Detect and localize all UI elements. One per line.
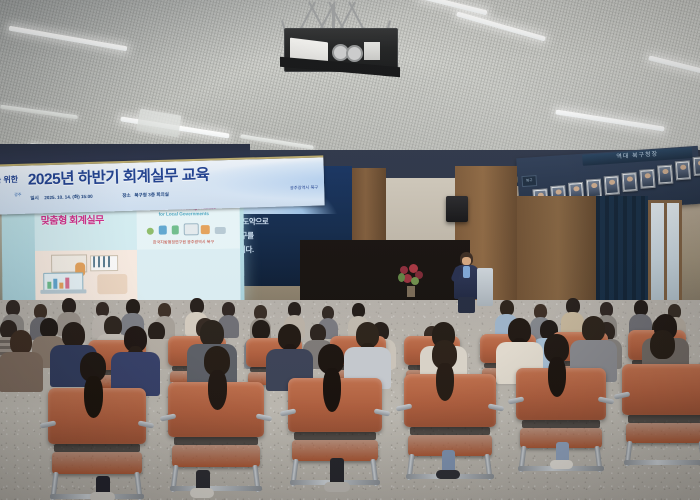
audience-shoe xyxy=(190,488,214,498)
audience-shoe xyxy=(90,492,115,500)
slide-icon-person xyxy=(172,225,179,234)
portrait-frame xyxy=(693,156,700,176)
portrait-wall-side-tag: 북구 xyxy=(521,175,537,187)
audience-shoe xyxy=(324,482,350,492)
slide-title: 맞춤형 회계실무 xyxy=(41,211,104,227)
slide-icon-circle xyxy=(147,228,154,235)
flower-arrangement xyxy=(398,264,424,296)
stage-wood-panel-far-right xyxy=(517,196,599,312)
seminar-room-photo: 역대 북구청장 북구 상생, 도약으로 찬 북구를 겠습니다. xyxy=(0,0,700,500)
banner-organizer-logo: 광주광역시 북구 xyxy=(290,185,318,192)
portrait-frame xyxy=(639,169,655,189)
banner-place-value: 북구청 3층 회의실 xyxy=(134,192,169,199)
banner-prefix-text: 을 위한 xyxy=(0,174,18,186)
projected-slide: 지방자치단체 맞춤형 회계실무 Customized Accounting Pr… xyxy=(34,199,240,305)
laptop-base xyxy=(40,289,86,293)
slide-icon-laptop xyxy=(215,227,226,234)
audience-shoe xyxy=(550,460,573,469)
banner-tiny-mark: 광주 xyxy=(14,192,22,198)
slide-footer-logos: 한국지방행정연구원 광주광역시 북구 xyxy=(153,239,214,246)
projector-fan-2 xyxy=(346,45,363,62)
slide-illustration-desk-scene xyxy=(97,274,127,294)
audience-shoe xyxy=(436,470,460,479)
slide-icon-document xyxy=(159,226,167,235)
projector-control-panel xyxy=(364,42,380,60)
portrait-frame xyxy=(604,175,620,195)
banner-place-label: 장소 xyxy=(122,193,131,199)
banner-date-label: 일시 xyxy=(30,195,39,201)
projector-assembly xyxy=(280,0,410,80)
slide-english-line-2: for Local Governments xyxy=(159,211,209,217)
chair[interactable] xyxy=(622,364,700,466)
portrait-frame xyxy=(621,172,637,192)
slide-illustration-chart xyxy=(93,256,111,267)
banner-date-value: 2025. 10. 14. (화) 15:00 xyxy=(44,194,93,201)
event-banner: 을 위한 2025년 하반기 회계실무 교육 일시 2025. 10. 14. … xyxy=(0,155,325,214)
presenter-face xyxy=(462,257,471,265)
slide-icon-book xyxy=(201,225,210,234)
presenter-shirt xyxy=(463,266,470,278)
slide-illustration-laptop xyxy=(43,272,87,296)
wall-speaker-left xyxy=(446,196,468,222)
portrait-frame xyxy=(657,165,673,185)
slide-icon-monitor xyxy=(184,223,199,235)
portrait-frame xyxy=(675,160,691,180)
